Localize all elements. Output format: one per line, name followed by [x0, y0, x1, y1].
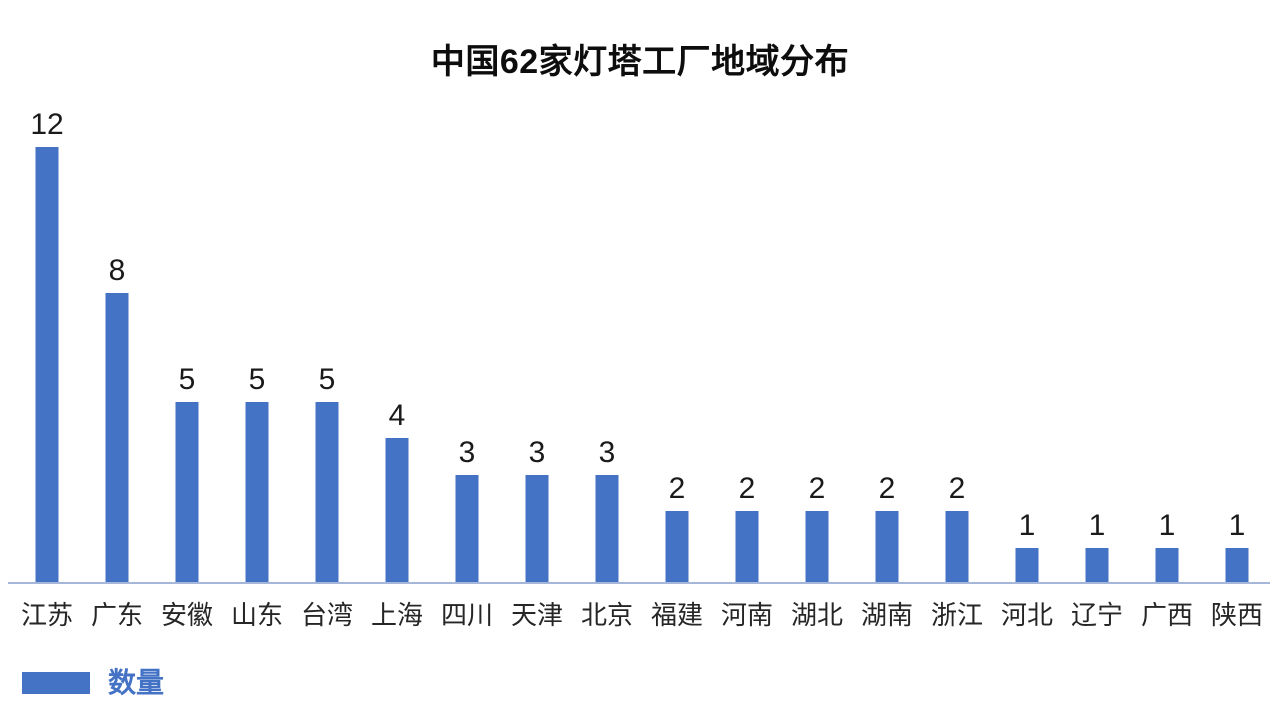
x-axis-category-label: 浙江 [922, 596, 992, 634]
bar-slot: 3 [502, 2, 572, 584]
x-axis-category-label: 北京 [572, 596, 642, 634]
bar-slot: 1 [1062, 2, 1132, 584]
x-axis-category-label: 陕西 [1202, 596, 1272, 634]
x-axis-category-label: 上海 [362, 596, 432, 634]
bar-value-label: 2 [879, 473, 896, 505]
bar-slot: 1 [1132, 2, 1202, 584]
bar-slot: 3 [432, 2, 502, 584]
bar-slot: 5 [222, 2, 292, 584]
bar-slot: 2 [782, 2, 852, 584]
bar[interactable] [666, 511, 689, 584]
legend-label-quantity: 数量 [108, 668, 164, 698]
bar-value-label: 5 [319, 364, 336, 396]
bar-value-label: 1 [1159, 510, 1176, 542]
legend-swatch-quantity[interactable] [22, 672, 90, 694]
bar[interactable] [736, 511, 759, 584]
x-axis-line [8, 582, 1270, 584]
bar-value-label: 2 [809, 473, 826, 505]
bar[interactable] [876, 511, 899, 584]
bar-chart: 中国62家灯塔工厂地域分布 1285554333222221111 江苏广东安徽… [0, 0, 1280, 725]
bar-slot: 2 [712, 2, 782, 584]
bar-slot: 5 [152, 2, 222, 584]
x-axis-category-label: 广西 [1132, 596, 1202, 634]
bar-slot: 8 [82, 2, 152, 584]
bar-slot: 5 [292, 2, 362, 584]
x-axis-category-label: 天津 [502, 596, 572, 634]
category-axis: 江苏广东安徽山东台湾上海四川天津北京福建河南湖北湖南浙江河北辽宁广西陕西 [0, 596, 1280, 640]
bar[interactable] [176, 402, 199, 584]
bar[interactable] [456, 475, 479, 584]
bar-value-label: 1 [1089, 510, 1106, 542]
bar-slot: 2 [642, 2, 712, 584]
x-axis-category-label: 江苏 [12, 596, 82, 634]
bar[interactable] [1086, 548, 1109, 584]
x-axis-category-label: 山东 [222, 596, 292, 634]
x-axis-category-label: 河北 [992, 596, 1062, 634]
bar[interactable] [1016, 548, 1039, 584]
bar-slot: 2 [922, 2, 992, 584]
bar-value-label: 3 [529, 437, 546, 469]
x-axis-category-label: 辽宁 [1062, 596, 1132, 634]
bar[interactable] [1156, 548, 1179, 584]
x-axis-category-label: 安徽 [152, 596, 222, 634]
bar-value-label: 2 [669, 473, 686, 505]
bar[interactable] [526, 475, 549, 584]
bar-value-label: 1 [1019, 510, 1036, 542]
chart-legend: 数量 [22, 668, 164, 698]
bar[interactable] [36, 147, 59, 584]
x-axis-category-label: 湖北 [782, 596, 852, 634]
x-axis-category-label: 四川 [432, 596, 502, 634]
x-axis-category-label: 台湾 [292, 596, 362, 634]
bar[interactable] [806, 511, 829, 584]
bar-value-label: 5 [179, 364, 196, 396]
bar[interactable] [246, 402, 269, 584]
x-axis-category-label: 福建 [642, 596, 712, 634]
bar-slot: 1 [992, 2, 1062, 584]
bar-value-label: 2 [739, 473, 756, 505]
x-axis-category-label: 河南 [712, 596, 782, 634]
plot-area: 1285554333222221111 [0, 0, 1280, 584]
bar-value-label: 1 [1229, 510, 1246, 542]
bar-value-label: 12 [30, 109, 63, 141]
bar-slot: 1 [1202, 2, 1272, 584]
x-axis-category-label: 广东 [82, 596, 152, 634]
bar[interactable] [946, 511, 969, 584]
bar[interactable] [596, 475, 619, 584]
bar-slot: 3 [572, 2, 642, 584]
bar-value-label: 2 [949, 473, 966, 505]
bar-value-label: 4 [389, 400, 406, 432]
bar[interactable] [106, 293, 129, 584]
bar-value-label: 8 [109, 255, 126, 287]
bar[interactable] [1226, 548, 1249, 584]
bar-slot: 2 [852, 2, 922, 584]
bar-value-label: 3 [459, 437, 476, 469]
bar-value-label: 5 [249, 364, 266, 396]
bar[interactable] [316, 402, 339, 584]
bar-slot: 4 [362, 2, 432, 584]
bar-slot: 12 [12, 2, 82, 584]
bar-value-label: 3 [599, 437, 616, 469]
bar[interactable] [386, 438, 409, 584]
x-axis-category-label: 湖南 [852, 596, 922, 634]
